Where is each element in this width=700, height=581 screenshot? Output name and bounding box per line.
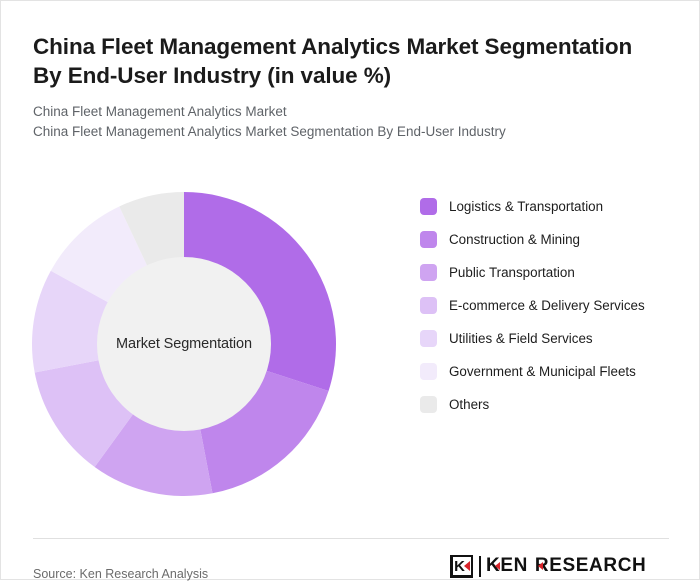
legend-item[interactable]: Public Transportation <box>420 263 670 283</box>
page-title: China Fleet Management Analytics Market … <box>33 32 633 90</box>
legend-swatch-icon <box>420 396 437 413</box>
legend-swatch-icon <box>420 330 437 347</box>
subtitle-group: China Fleet Management Analytics Market … <box>33 102 633 142</box>
logo-wordmark: KEN RESEARCH <box>486 555 646 577</box>
legend-label: Utilities & Field Services <box>449 329 593 349</box>
chart-card: China Fleet Management Analytics Market … <box>0 0 700 580</box>
legend-label: Others <box>449 395 489 415</box>
legend-label: Government & Municipal Fleets <box>449 362 636 382</box>
donut-svg <box>29 189 339 499</box>
legend-label: E-commerce & Delivery Services <box>449 296 645 316</box>
footer-divider <box>33 538 669 539</box>
logo-word-ken: KEN <box>486 555 528 577</box>
donut-wrap <box>29 189 339 499</box>
logo-badge-icon: K <box>450 555 473 578</box>
donut-chart: Market Segmentation <box>29 189 349 509</box>
chart-legend: Logistics & TransportationConstruction &… <box>420 197 670 428</box>
source-note: Source: Ken Research Analysis <box>33 567 208 581</box>
logo-badge-triangle-icon <box>464 561 470 571</box>
logo-word-research: RESEARCH <box>535 555 646 577</box>
header: China Fleet Management Analytics Market … <box>33 32 633 142</box>
legend-swatch-icon <box>420 198 437 215</box>
legend-item[interactable]: Government & Municipal Fleets <box>420 362 670 382</box>
donut-hole <box>97 257 271 431</box>
logo-badge-inner: K <box>453 557 471 575</box>
ken-research-logo: K KEN RESEARCH <box>450 554 646 578</box>
logo-word-research-text: RESEARCH <box>535 555 646 576</box>
logo-ken-triangle-icon <box>495 562 500 570</box>
legend-label: Construction & Mining <box>449 230 580 250</box>
legend-item[interactable]: E-commerce & Delivery Services <box>420 296 670 316</box>
legend-label: Logistics & Transportation <box>449 197 603 217</box>
legend-item[interactable]: Utilities & Field Services <box>420 329 670 349</box>
legend-swatch-icon <box>420 264 437 281</box>
logo-word-ken-text: KEN <box>486 555 528 576</box>
legend-swatch-icon <box>420 231 437 248</box>
legend-label: Public Transportation <box>449 263 575 283</box>
legend-swatch-icon <box>420 297 437 314</box>
legend-item[interactable]: Logistics & Transportation <box>420 197 670 217</box>
subtitle-secondary: China Fleet Management Analytics Market … <box>33 122 633 142</box>
subtitle-primary: China Fleet Management Analytics Market <box>33 102 633 122</box>
legend-item[interactable]: Others <box>420 395 670 415</box>
logo-divider-bar <box>479 556 481 577</box>
logo-research-triangle-icon <box>538 562 543 570</box>
legend-item[interactable]: Construction & Mining <box>420 230 670 250</box>
legend-swatch-icon <box>420 363 437 380</box>
